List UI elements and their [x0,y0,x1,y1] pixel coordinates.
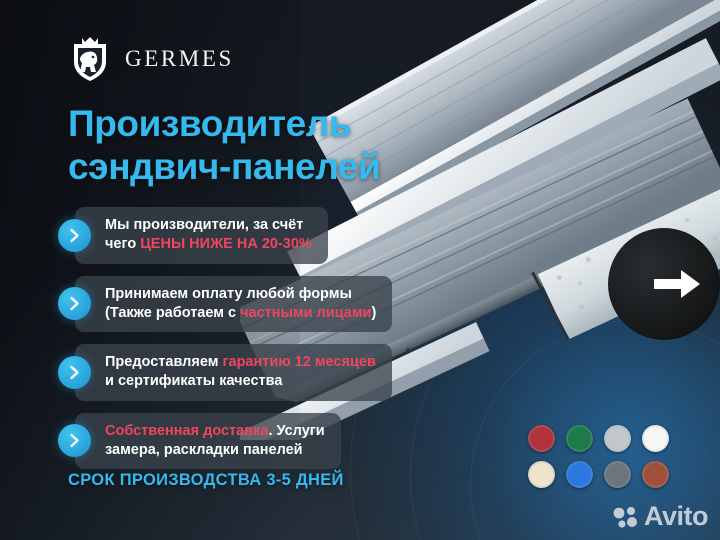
benefit-4-highlight: Собственная доставка [105,423,268,439]
swatch-cell[interactable] [598,420,636,456]
benefit-text: Принимаем оплату любой формы (Также рабо… [75,276,392,333]
list-item: Предоставляем гарантию 12 месяцев и серт… [58,344,392,401]
swatch-white [642,425,669,452]
color-swatch-grid [522,420,674,492]
list-item: Принимаем оплату любой формы (Также рабо… [58,276,392,333]
benefit-4-line-1-tail: . Услуги [268,423,324,439]
benefit-text: Мы производители, за счёт чего ЦЕНЫ НИЖЕ… [75,207,328,264]
benefit-3-line-1-plain: Предоставляем [105,354,222,370]
brand-name: GERMES [125,46,234,72]
benefit-4-line-2: замера, раскладки панелей [105,442,303,458]
swatch-green [566,425,593,452]
headline-line-2: сэндвич-панелей [68,146,380,189]
brand-logo: GERMES [68,36,234,82]
swatch-cell[interactable] [560,456,598,492]
swatch-cell[interactable] [598,456,636,492]
benefit-2-line-1: Принимаем оплату любой формы [105,286,352,302]
swatch-cell[interactable] [636,420,674,456]
benefit-3-line-2: и сертификаты качества [105,373,282,389]
benefits-list: Мы производители, за счёт чего ЦЕНЫ НИЖЕ… [58,207,392,469]
germes-shield-lion-icon [68,36,112,82]
benefit-text: Собственная доставка. Услуги замера, рас… [75,413,341,470]
production-term-tagline: СРОК ПРОИЗВОДСТВА 3-5 ДНЕЙ [68,471,344,490]
list-item: Мы производители, за счёт чего ЦЕНЫ НИЖЕ… [58,207,392,264]
chevron-right-icon [58,219,91,252]
swatch-cell[interactable] [560,420,598,456]
avito-watermark: Avito [613,501,708,532]
swatch-blue [566,461,593,488]
benefit-3-highlight: гарантию 12 месяцев [222,354,375,370]
arrow-disc[interactable] [608,228,720,340]
benefit-1-line-2-plain: чего [105,236,140,252]
benefit-2-line-2-plain: (Также работаем с [105,305,240,321]
benefit-text: Предоставляем гарантию 12 месяцев и серт… [75,344,392,401]
list-item: Собственная доставка. Услуги замера, рас… [58,413,392,470]
headline-line-1: Производитель [68,103,351,144]
swatch-gray [604,461,631,488]
benefit-2-line-2-tail: ) [371,305,376,321]
avito-dots-icon [613,505,639,529]
swatch-brown [642,461,669,488]
swatch-light-gray [604,425,631,452]
swatch-cell[interactable] [522,420,560,456]
swatch-cell[interactable] [522,456,560,492]
advertisement-banner: GERMES Производитель сэндвич-панелей Мы … [0,0,720,540]
page-title: Производитель сэндвич-панелей [68,103,380,189]
benefit-2-highlight: частными лицами [240,305,371,321]
benefit-1-line-1: Мы производители, за счёт [105,217,303,233]
avito-wordmark: Avito [644,501,708,532]
swatch-red [528,425,555,452]
benefit-1-highlight: ЦЕНЫ НИЖЕ НА 20-30% [140,236,312,252]
arrow-right-icon [654,270,700,298]
chevron-right-icon [58,356,91,389]
swatch-cream [528,461,555,488]
swatch-cell[interactable] [636,456,674,492]
